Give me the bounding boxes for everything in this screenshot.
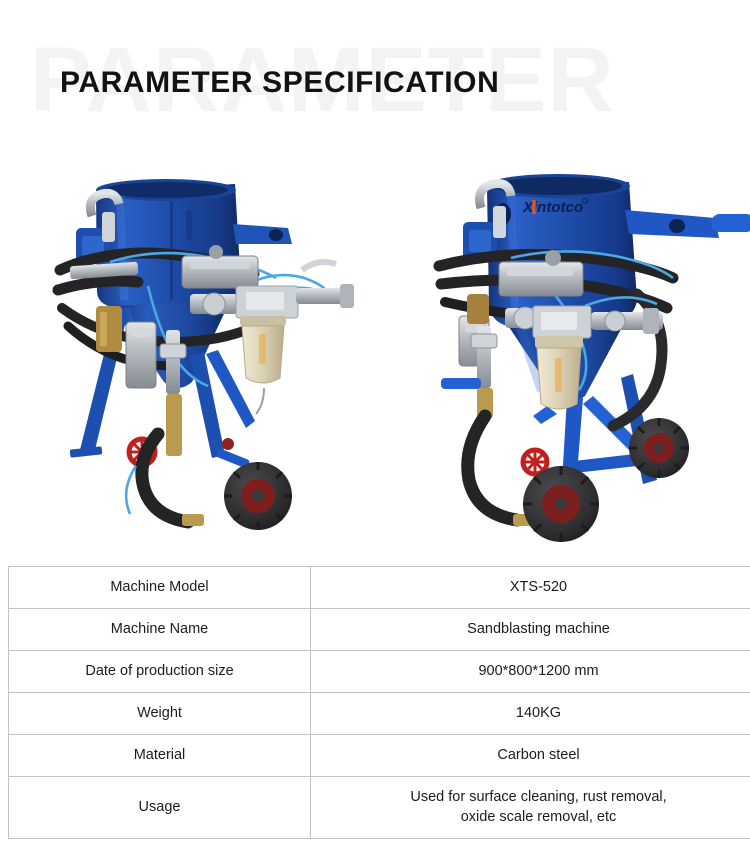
blast-hose-coupling xyxy=(182,514,204,526)
brass-canister xyxy=(96,306,122,352)
riser-union xyxy=(160,344,186,358)
inlet-stem xyxy=(493,206,506,238)
wheel-assembly xyxy=(215,448,292,530)
filter-collar xyxy=(535,336,583,348)
spec-value-cell: 140KG xyxy=(311,693,750,735)
hose-control-line xyxy=(126,466,136,514)
filter-sight-glass xyxy=(259,334,266,364)
actuator-top-cap xyxy=(545,250,561,266)
riser-union xyxy=(471,334,497,348)
inlet-valve-face xyxy=(469,230,491,252)
outlet-coupling xyxy=(340,284,354,308)
brand-logo-text: Xintotco xyxy=(522,199,583,216)
pneumatic-actuator-top xyxy=(182,256,258,288)
spec-key-cell: Material xyxy=(9,735,311,777)
blast-hose xyxy=(468,416,517,520)
sandblasting-machine-left-illustration xyxy=(40,166,415,566)
filter-head-label xyxy=(541,312,577,330)
lift-handle-hole xyxy=(269,229,283,241)
actuator-top-cap xyxy=(209,245,223,259)
product-image-left[interactable] xyxy=(40,166,415,566)
specification-table-container: Machine Model XTS-520 Machine Name Sandb… xyxy=(8,566,742,839)
actuator-top-ridge xyxy=(507,269,573,276)
actuator-lower-ridge xyxy=(131,329,151,337)
product-image-right[interactable]: Xintotco xyxy=(415,166,750,566)
spec-value-cell: Carbon steel xyxy=(311,735,750,777)
table-row: Machine Name Sandblasting machine xyxy=(9,609,750,651)
ball-valve-ball xyxy=(203,293,225,315)
table-row: Usage Used for surface cleaning, rust re… xyxy=(9,777,750,839)
specification-table-body: Machine Model XTS-520 Machine Name Sandb… xyxy=(9,567,750,839)
outlet-ball-valve xyxy=(605,311,625,331)
page-title: PARAMETER SPECIFICATION xyxy=(60,66,499,100)
table-row: Date of production size 900*800*1200 mm xyxy=(9,651,750,693)
tank-opening xyxy=(104,182,228,198)
brass-downpipe xyxy=(166,394,182,456)
stand-foot-left xyxy=(70,446,103,457)
spec-key-cell: Date of production size xyxy=(9,651,311,693)
brand-logo: Xintotco xyxy=(522,198,588,216)
spec-key-cell: Weight xyxy=(9,693,311,735)
brass-canister xyxy=(467,294,489,324)
filter-drain-line xyxy=(256,388,264,414)
filter-sight-glass xyxy=(555,358,562,392)
spec-value-cell: Sandblasting machine xyxy=(311,609,750,651)
spec-value-cell: XTS-520 xyxy=(311,567,750,609)
spec-key-cell: Machine Name xyxy=(9,609,311,651)
inlet-stem xyxy=(102,212,115,242)
brass-canister-highlight xyxy=(100,312,107,346)
tank-lug xyxy=(186,210,192,240)
actuator-top-ridge xyxy=(190,262,250,269)
table-row: Material Carbon steel xyxy=(9,735,750,777)
spec-key-cell: Machine Model xyxy=(9,567,311,609)
spec-value-cell: 900*800*1200 mm xyxy=(311,651,750,693)
outlet-bypass-pipe xyxy=(302,262,336,270)
sandblasting-machine-right-illustration: Xintotco xyxy=(415,166,750,566)
table-row: Machine Model XTS-520 xyxy=(9,567,750,609)
spec-key-cell: Usage xyxy=(9,777,311,839)
outlet-coupling xyxy=(643,308,659,334)
small-red-valve xyxy=(222,438,234,450)
wheel-axle xyxy=(555,498,567,510)
push-handle-grip xyxy=(711,214,750,232)
wheel-assembly-rear xyxy=(629,418,689,478)
wheel-assembly-front xyxy=(523,466,599,542)
table-row: Weight 140KG xyxy=(9,693,750,735)
wheel-axle xyxy=(252,490,264,502)
lift-handle-bracket xyxy=(233,224,292,244)
filter-collar xyxy=(240,316,286,326)
product-gallery: Xintotco xyxy=(0,150,750,550)
blue-lever-handle xyxy=(441,378,481,389)
page-header: PARAMETER PARAMETER SPECIFICATION xyxy=(0,0,750,150)
specification-table: Machine Model XTS-520 Machine Name Sandb… xyxy=(8,566,750,839)
push-handle-hole xyxy=(669,219,685,233)
spec-value-cell: Used for surface cleaning, rust removal,… xyxy=(311,777,750,839)
riser-pipe xyxy=(166,330,180,394)
pneumatic-actuator-top xyxy=(499,262,583,296)
filter-head-label xyxy=(246,292,284,310)
wheel-axle xyxy=(654,443,664,453)
